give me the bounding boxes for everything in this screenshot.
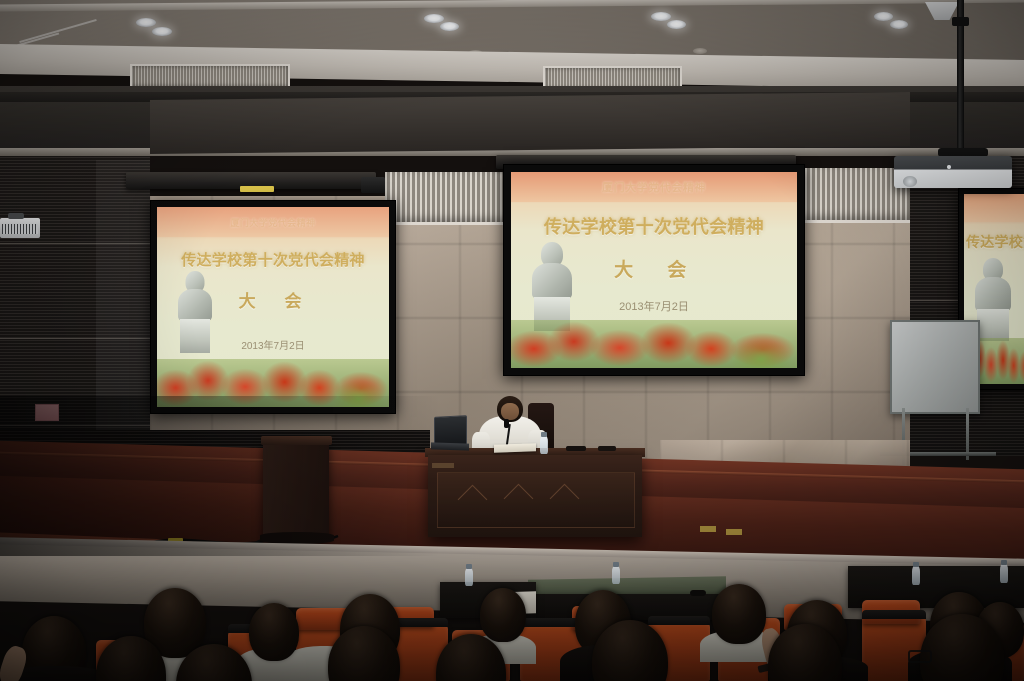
downlight — [667, 20, 686, 29]
desk-object — [690, 590, 706, 596]
projector-led — [947, 165, 951, 169]
podium[interactable] — [263, 440, 329, 540]
downlight — [424, 14, 444, 23]
audience-head — [249, 603, 299, 661]
slide-green-foliage — [731, 340, 791, 368]
laptop-base — [431, 442, 469, 450]
audience-bottle-cap — [913, 562, 919, 567]
slide-header-text: 厦门大学党代会精神 — [157, 216, 389, 229]
wall-projector-vent — [2, 224, 38, 234]
bust-plinth — [977, 309, 1009, 341]
seat-headrest — [862, 610, 926, 619]
wall-fascia — [150, 92, 910, 154]
acoustic-slat-panel — [385, 172, 515, 225]
slide-bust-statue — [175, 269, 215, 354]
audience-water-bottle — [465, 568, 473, 586]
acoustic-slat-panel — [790, 168, 910, 223]
microphone — [504, 419, 509, 428]
bust-body — [975, 277, 1011, 311]
recessed-fitting — [693, 48, 707, 54]
downlight — [136, 18, 156, 27]
slide-bust-statue — [529, 240, 575, 332]
wall-speaker — [361, 177, 385, 193]
downlight — [152, 27, 172, 36]
speaker-papers — [494, 443, 536, 452]
slide-green-foliage — [332, 381, 384, 407]
projector-pole-collar — [952, 17, 969, 26]
auditorium-photo: 厦门大学党代会精神 传达学校第十次党代会精神 大 会 2013年7月2日 厦门大… — [0, 0, 1024, 681]
speaker-face — [501, 403, 519, 420]
stage-tape-mark — [700, 526, 716, 532]
audience-water-bottle — [612, 566, 620, 584]
projector-lens — [903, 176, 917, 187]
podium-top-surface — [261, 436, 332, 445]
whiteboard[interactable] — [890, 320, 980, 414]
center-screen[interactable]: 厦门大学党代会精神 传达学校第十次党代会精神 大 会 2013年7月2日 — [503, 164, 805, 376]
audience-bottle-cap — [466, 564, 472, 569]
table-bottle-cap — [541, 432, 547, 437]
slide-title-text: 传达学校第十次党代会精神 — [157, 249, 389, 270]
seat-headrest — [648, 616, 710, 625]
audience-water-bottle — [912, 566, 920, 585]
table-nameplate — [432, 463, 454, 468]
slide-title-text: 传达学校第十次党代会精神 — [966, 232, 1024, 252]
downlight — [440, 22, 459, 31]
downlight — [651, 12, 671, 21]
audience-head — [712, 584, 766, 644]
stage-tape-mark — [726, 529, 742, 535]
table-water-bottle — [540, 436, 548, 454]
downlight — [890, 20, 908, 29]
bust-body — [532, 263, 572, 299]
seat-headrest — [520, 618, 582, 627]
eyeglasses — [908, 650, 932, 663]
wall-sign — [35, 404, 59, 421]
slide-title-text: 传达学校第十次党代会精神 — [511, 213, 797, 239]
center-slide: 厦门大学党代会精神 传达学校第十次党代会精神 大 会 2013年7月2日 — [511, 172, 797, 368]
left-slide: 厦门大学党代会精神 传达学校第十次党代会精神 大 会 2013年7月2日 — [157, 207, 389, 407]
table-item — [598, 446, 616, 451]
wall-projector-mount — [8, 213, 24, 219]
table-item — [566, 446, 586, 451]
downlight — [874, 12, 893, 21]
slide-header-text: 厦门大学党代会精神 — [511, 179, 797, 195]
audience-bottle-cap — [613, 562, 619, 567]
hvac-vent-left — [130, 64, 290, 88]
bust-plinth — [180, 319, 210, 353]
audience-head — [480, 588, 526, 642]
audience-bottle-cap — [1001, 560, 1007, 565]
bust-body — [178, 289, 212, 321]
roller-label — [240, 186, 274, 192]
left-screen[interactable]: 厦门大学党代会精神 传达学校第十次党代会精神 大 会 2013年7月2日 — [150, 200, 396, 414]
slide-top-band — [964, 194, 1024, 222]
audience-water-bottle — [1000, 564, 1008, 583]
